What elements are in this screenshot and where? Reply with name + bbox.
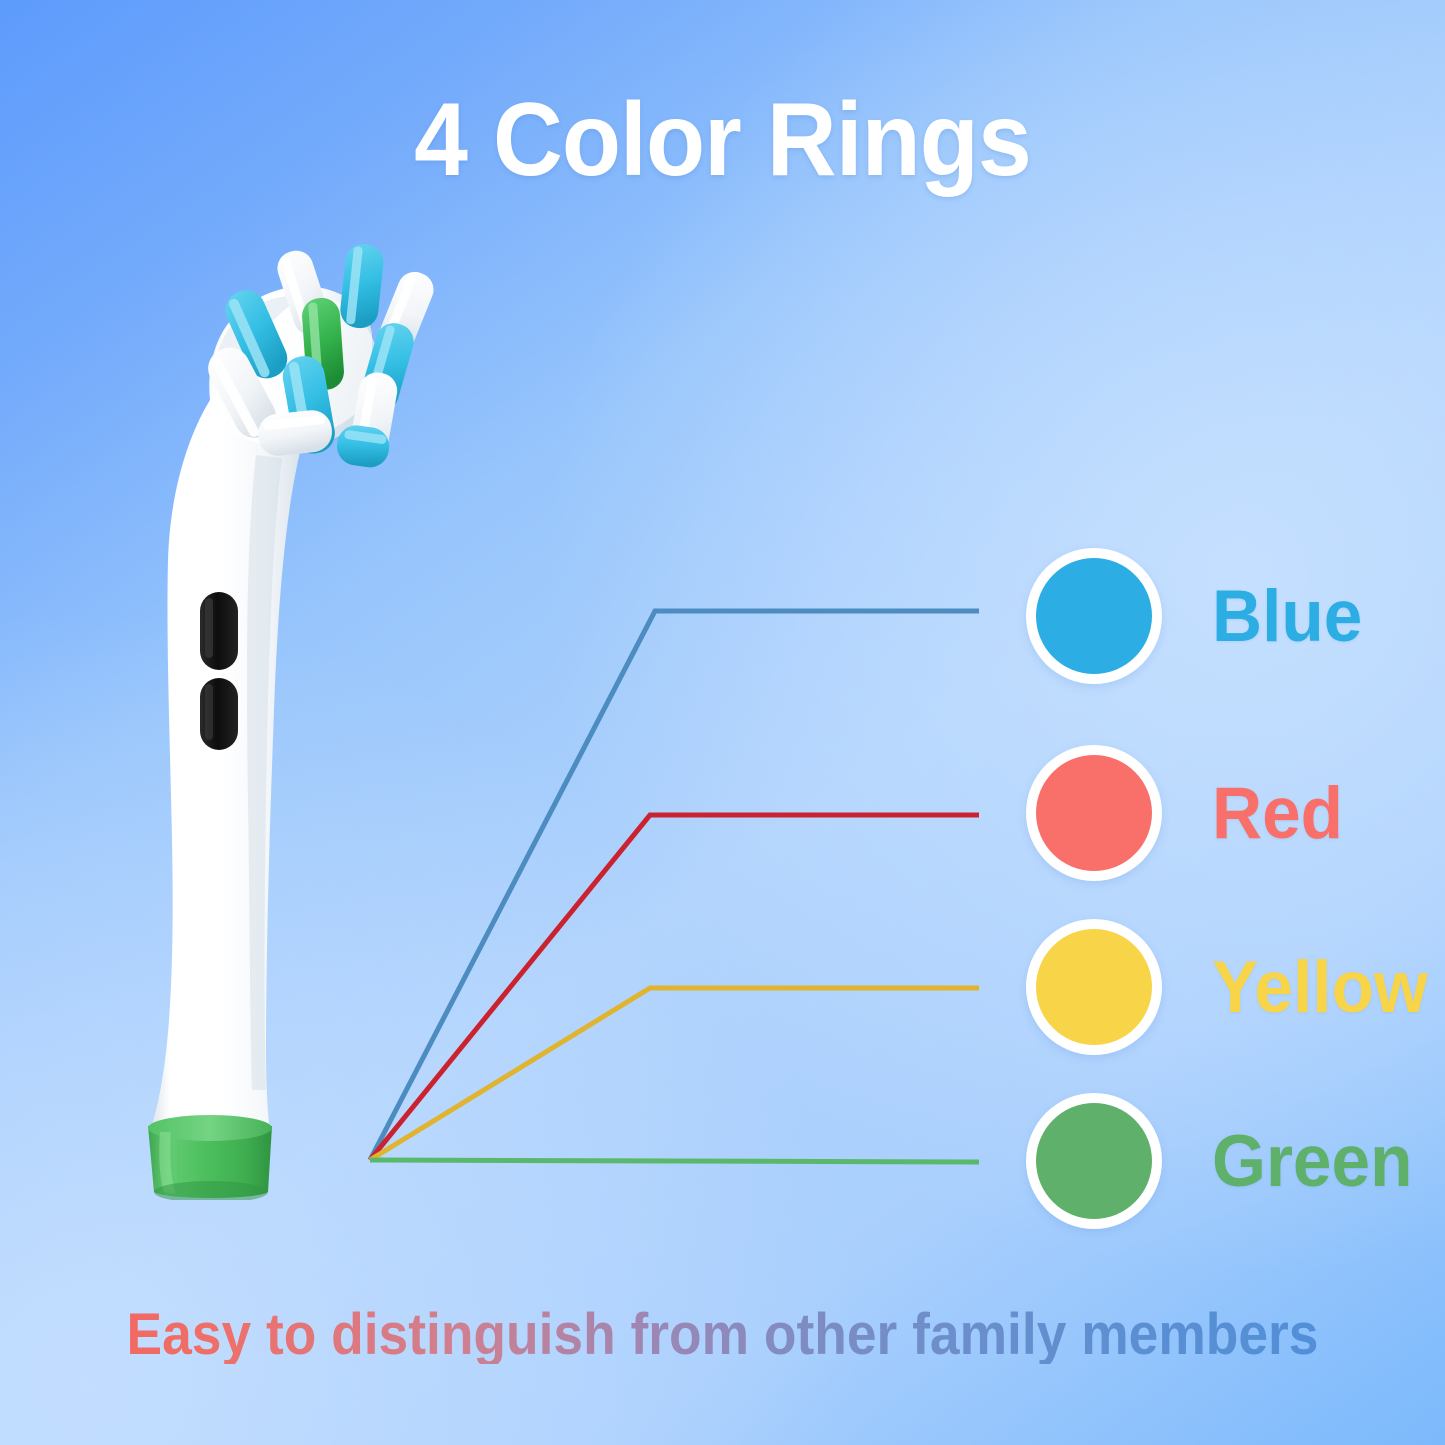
color-label-red: Red [1212, 777, 1343, 850]
footer-caption: Easy to distinguish from other family me… [58, 1306, 1387, 1364]
toothbrush-head-image [60, 240, 460, 1200]
color-ring-blue[interactable] [1026, 548, 1162, 684]
swatch-row-red[interactable]: Red [1026, 745, 1350, 881]
handle-slot-upper [200, 592, 238, 670]
green-color-ring [148, 1115, 272, 1200]
color-dot-blue [1036, 558, 1152, 674]
color-ring-green[interactable] [1026, 1093, 1162, 1229]
color-dot-red [1036, 755, 1152, 871]
yellow-leader-line [370, 988, 979, 1160]
brush-handle [150, 390, 322, 1132]
red-leader-line [370, 815, 979, 1160]
handle-slot-lower [200, 678, 238, 750]
color-ring-red[interactable] [1026, 745, 1162, 881]
blue-leader-line [370, 611, 979, 1160]
color-dot-yellow [1036, 929, 1152, 1045]
page-title: 4 Color Rings [51, 88, 1395, 192]
swatch-row-yellow[interactable]: Yellow [1026, 919, 1439, 1055]
green-leader-line [370, 1160, 979, 1162]
color-label-blue: Blue [1212, 580, 1362, 653]
color-label-yellow: Yellow [1212, 951, 1428, 1024]
color-label-green: Green [1212, 1125, 1412, 1198]
swatch-row-blue[interactable]: Blue [1026, 548, 1370, 684]
swatch-row-green[interactable]: Green [1026, 1093, 1423, 1229]
product-feature-poster: 4 Color Rings [0, 0, 1445, 1445]
color-dot-green [1036, 1103, 1152, 1219]
color-ring-yellow[interactable] [1026, 919, 1162, 1055]
